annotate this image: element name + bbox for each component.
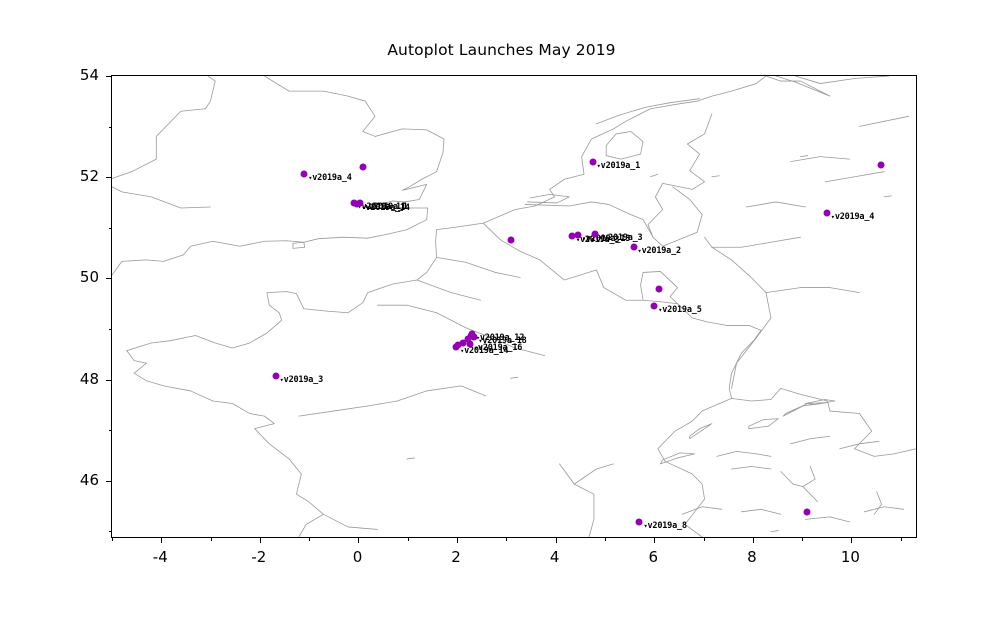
coastline-path	[690, 424, 712, 439]
coastline-path	[712, 237, 801, 247]
x-tick	[358, 537, 359, 543]
coastline-path	[574, 464, 613, 484]
map-plot-area	[112, 76, 916, 537]
data-point-label: ▾v2019a_4	[308, 173, 351, 183]
data-point-marker	[574, 232, 581, 239]
label-text: v2019a_3	[603, 233, 642, 243]
x-tick-label: -4	[153, 548, 168, 566]
coastline-path	[648, 114, 712, 246]
coastline-map	[112, 76, 916, 537]
data-point-marker	[630, 243, 637, 250]
y-tick-label: 48	[80, 370, 99, 388]
x-tick-minor	[112, 537, 113, 541]
x-tick-label: 0	[353, 548, 363, 566]
coastline-path	[783, 402, 827, 416]
coastline-path	[712, 176, 719, 177]
data-point-marker	[453, 344, 460, 351]
x-tick-minor	[704, 537, 705, 541]
y-tick	[106, 177, 112, 178]
coastline-path	[650, 174, 657, 176]
x-tick-label: 2	[451, 548, 461, 566]
coastline-path	[766, 288, 859, 293]
y-tick-minor	[109, 531, 113, 532]
coastline-path	[859, 116, 908, 126]
coastline-path	[749, 419, 779, 429]
data-point-label: ▾v2019a_14	[460, 346, 508, 356]
x-tick-label: 8	[747, 548, 757, 566]
y-tick	[106, 380, 112, 381]
coastline-path	[781, 467, 815, 487]
coastline-path	[800, 156, 807, 157]
coastline-path	[746, 202, 805, 207]
x-tick	[161, 537, 162, 543]
coastline-path	[437, 257, 521, 277]
data-point-marker	[360, 164, 367, 171]
coastline-path	[658, 398, 732, 484]
data-point-marker	[804, 509, 811, 516]
coastline-path	[791, 436, 830, 444]
x-tick-label: -2	[251, 548, 266, 566]
x-tick	[753, 537, 754, 543]
coastline-path	[874, 492, 881, 515]
coastline-path	[483, 76, 766, 223]
label-text: v2019a_1	[368, 202, 407, 212]
data-point-marker	[272, 372, 279, 379]
data-point-marker	[656, 285, 663, 292]
coastline-path	[299, 401, 397, 416]
label-text: v2019a_3	[284, 375, 323, 385]
data-point-marker	[592, 230, 599, 237]
coastline-path	[589, 519, 594, 537]
coastline-path	[417, 280, 481, 300]
chart-title: Autoplot Launches May 2019	[0, 41, 1003, 59]
coastline-path	[510, 377, 517, 378]
data-point-marker	[471, 334, 478, 341]
x-tick-minor	[605, 537, 606, 541]
x-tick	[654, 537, 655, 543]
x-tick	[851, 537, 852, 543]
coastline-path	[840, 441, 879, 448]
x-tick-minor	[802, 537, 803, 541]
x-tick-minor	[309, 537, 310, 541]
coastline-path	[682, 507, 721, 515]
coastline-path	[685, 484, 705, 537]
x-tick	[457, 537, 458, 543]
data-point-label: ▾v2019a_3	[280, 375, 323, 385]
coastline-path	[717, 451, 771, 456]
y-tick-label: 52	[80, 167, 99, 185]
coastline-path	[741, 509, 780, 514]
coastline-path	[112, 76, 215, 208]
coastline-path	[732, 388, 830, 411]
data-point-marker	[301, 170, 308, 177]
data-point-label: ▾v2019a_5	[658, 305, 701, 315]
label-text: v2019a_4	[835, 212, 874, 222]
y-tick-minor	[109, 228, 113, 229]
x-tick-minor	[408, 537, 409, 541]
x-tick	[556, 537, 557, 543]
label-text: v2019a_14	[464, 346, 508, 356]
coastline-path	[766, 76, 830, 96]
coastline-path	[864, 507, 903, 512]
x-tick-minor	[901, 537, 902, 541]
y-tick-minor	[109, 329, 113, 330]
coastline-path	[112, 76, 444, 275]
label-text: v2019a_1	[601, 161, 640, 171]
data-point-marker	[357, 200, 364, 207]
data-point-marker	[589, 159, 596, 166]
x-tick-minor	[211, 537, 212, 541]
y-tick	[106, 76, 112, 77]
coastline-path	[884, 196, 891, 197]
coastline-path	[677, 304, 761, 399]
coastline-path	[771, 530, 778, 531]
y-tick-minor	[109, 127, 113, 128]
coastline-path	[596, 99, 699, 124]
coastline-path	[559, 464, 593, 519]
coastline-path	[732, 467, 771, 469]
x-tick	[260, 537, 261, 543]
coastline-path	[830, 411, 916, 456]
coastline-path	[660, 453, 694, 464]
plot-axes: ▾v2019a_4▾v2019a_11▾v2019a_14▾v2019a_1▾v…	[111, 75, 917, 538]
data-point-marker	[508, 237, 515, 244]
data-point-marker	[878, 161, 885, 168]
coastline-path	[805, 517, 849, 522]
coastline-path	[825, 172, 884, 182]
coastline-path	[663, 187, 702, 246]
coastline-path	[378, 305, 466, 328]
data-point-marker	[636, 519, 643, 526]
coastline-path	[803, 487, 818, 502]
data-point-label: ▾v2019a_1	[597, 161, 640, 171]
label-text: v2019a_8	[647, 521, 686, 531]
x-tick-label: 6	[648, 548, 658, 566]
data-point-marker	[823, 209, 830, 216]
figure-canvas: Autoplot Launches May 2019 ▾v2019a_4▾v20…	[0, 0, 1003, 633]
data-point-label: ▾v2019a_3	[599, 233, 642, 243]
coastline-path	[528, 194, 570, 203]
y-tick	[106, 481, 112, 482]
y-tick	[106, 278, 112, 279]
data-point-label: ▾v2019a_8	[643, 521, 686, 531]
x-tick-label: 10	[841, 548, 860, 566]
data-point-label: ▾v2019a_2	[638, 246, 681, 256]
coastline-path	[323, 514, 377, 529]
data-point-label: ▾v2019a_1	[364, 202, 407, 212]
y-tick-label: 54	[80, 66, 99, 84]
label-text: v2019a_5	[662, 305, 701, 315]
x-tick-minor	[506, 537, 507, 541]
coastline-path	[606, 131, 643, 159]
y-tick-label: 50	[80, 268, 99, 286]
coastline-path	[407, 458, 414, 459]
coastline-path	[705, 237, 771, 388]
x-tick-label: 4	[550, 548, 560, 566]
coastline-path	[805, 399, 835, 404]
coastline-path	[791, 157, 850, 162]
label-text: v2019a_2	[642, 246, 681, 256]
coastline-path	[293, 242, 305, 248]
y-tick-label: 46	[80, 471, 99, 489]
coastline-path	[397, 386, 486, 401]
data-point-label: ▾v2019a_4	[831, 212, 874, 222]
data-point-marker	[651, 303, 658, 310]
coastline-path	[795, 76, 888, 84]
label-text: v2019a_4	[312, 173, 351, 183]
y-tick-minor	[109, 430, 113, 431]
